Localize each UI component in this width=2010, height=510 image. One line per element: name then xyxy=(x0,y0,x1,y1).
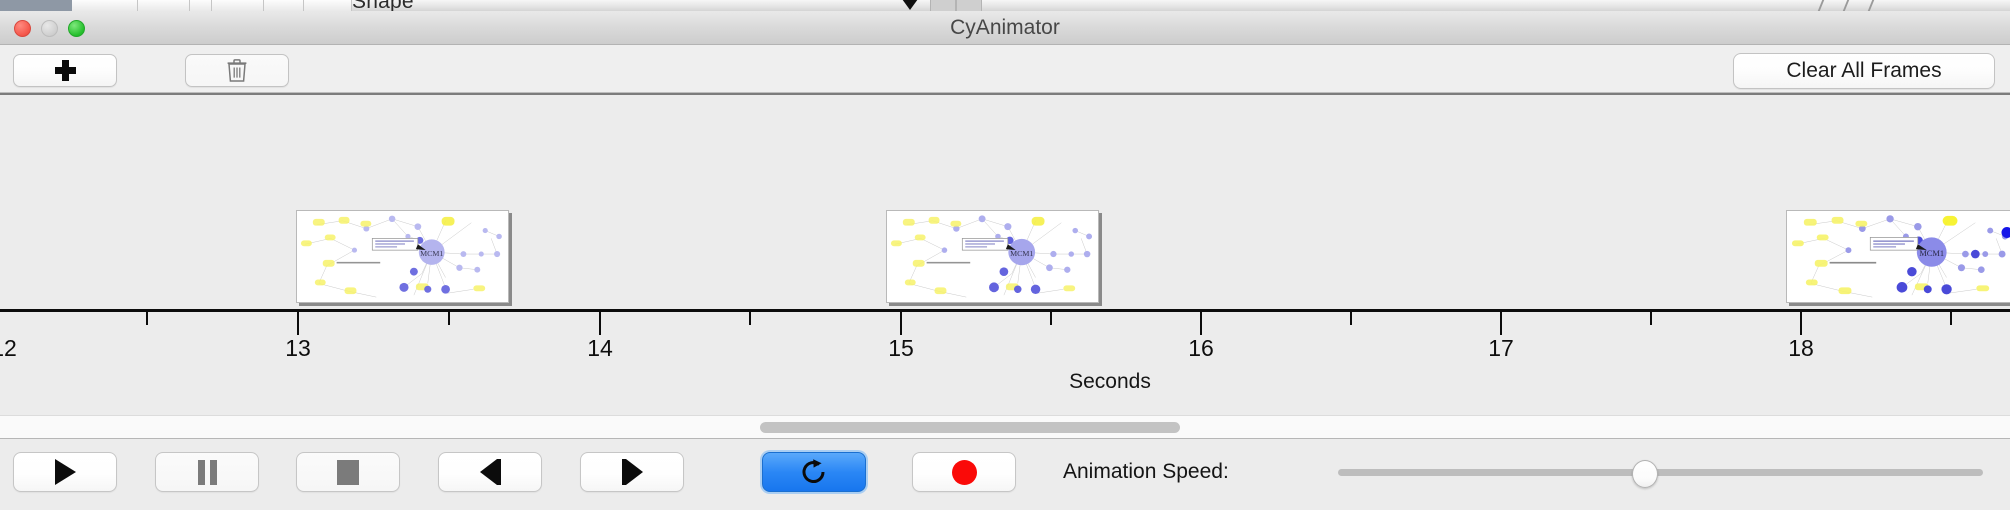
background-window-divider xyxy=(1868,0,1874,11)
stop-icon xyxy=(337,460,359,485)
axis-line xyxy=(0,309,2010,312)
background-window-cursor-arrow-icon xyxy=(902,0,918,10)
axis-tick-label: 13 xyxy=(285,335,311,362)
scrollbar-thumb[interactable] xyxy=(760,422,1180,433)
frame-thumbnail-3[interactable]: MCM1 xyxy=(1786,210,2010,303)
slider-thumb[interactable] xyxy=(1632,460,1658,488)
axis-tick-minor xyxy=(1050,312,1052,325)
record-icon xyxy=(952,460,977,485)
clear-all-frames-label: Clear All Frames xyxy=(1786,59,1941,83)
axis-tick-label: 12 xyxy=(0,335,17,362)
axis-tick-major xyxy=(900,312,902,335)
loop-icon xyxy=(800,458,828,486)
axis-tick-minor xyxy=(448,312,450,325)
axis-tick-label: 15 xyxy=(888,335,914,362)
background-window-tab xyxy=(930,0,956,11)
axis-tick-minor xyxy=(1350,312,1352,325)
axis-title-label: Seconds xyxy=(1069,370,1151,393)
background-window-divider xyxy=(1843,0,1849,11)
skip-to-end-button[interactable] xyxy=(580,452,684,492)
background-window-segment xyxy=(304,0,352,11)
plus-icon xyxy=(55,60,76,81)
pause-icon xyxy=(198,460,217,485)
play-icon xyxy=(55,459,76,485)
axis-tick-minor xyxy=(1650,312,1652,325)
playback-controls: Animation Speed: xyxy=(0,440,2010,510)
skip-to-start-button[interactable] xyxy=(438,452,542,492)
background-window-sidebar xyxy=(0,0,72,11)
minimize-button[interactable] xyxy=(41,20,58,37)
background-window-divider xyxy=(1818,0,1824,11)
animation-speed-slider[interactable] xyxy=(1338,452,1983,492)
add-frame-button[interactable] xyxy=(13,54,117,87)
trash-icon xyxy=(227,59,247,82)
pause-button[interactable] xyxy=(155,452,259,492)
close-button[interactable] xyxy=(14,20,31,37)
timeline-scrollbar[interactable] xyxy=(0,415,2010,439)
maximize-button[interactable] xyxy=(68,20,85,37)
timeline-axis[interactable]: 12 13 14 15 16 17 18 Seconds xyxy=(0,309,2010,415)
background-window-segment xyxy=(190,0,212,11)
frame-thumbnail-1[interactable]: MCM1 xyxy=(296,210,509,303)
frame-thumbnail-2[interactable]: MCM1 xyxy=(886,210,1099,303)
window-title: CyAnimator xyxy=(0,11,2010,45)
skip-back-icon xyxy=(480,459,501,485)
delete-frame-button[interactable] xyxy=(185,54,289,87)
background-window-segment xyxy=(212,0,264,11)
background-window-strip: Shape xyxy=(0,0,2010,11)
axis-tick-minor xyxy=(1950,312,1952,325)
record-button[interactable] xyxy=(912,452,1016,492)
cyanimator-window: Shape CyAnimator xyxy=(0,0,2010,510)
axis-tick-minor xyxy=(749,312,751,325)
axis-tick-label: 14 xyxy=(587,335,613,362)
axis-tick-major xyxy=(1500,312,1502,335)
traffic-light-group xyxy=(14,20,85,37)
clear-all-frames-button[interactable]: Clear All Frames xyxy=(1733,53,1995,89)
skip-forward-icon xyxy=(622,459,643,485)
axis-tick-label: 18 xyxy=(1788,335,1814,362)
svg-text:MCM1: MCM1 xyxy=(1919,249,1944,258)
frame-strip[interactable]: MCM1 xyxy=(0,93,2010,309)
axis-tick-label: 16 xyxy=(1188,335,1214,362)
axis-tick-major xyxy=(599,312,601,335)
stop-button[interactable] xyxy=(296,452,400,492)
background-window-tab xyxy=(956,0,982,11)
axis-tick-label: 17 xyxy=(1488,335,1514,362)
animation-speed-label: Animation Speed: xyxy=(1063,452,1229,492)
svg-text:MCM1: MCM1 xyxy=(420,249,443,258)
loop-button[interactable] xyxy=(762,452,866,492)
axis-tick-major xyxy=(1200,312,1202,335)
background-window-segment xyxy=(72,0,138,11)
slider-track[interactable] xyxy=(1338,469,1983,476)
background-window-segment xyxy=(264,0,304,11)
axis-tick-major xyxy=(1800,312,1802,335)
toolbar: Clear All Frames xyxy=(0,45,2010,93)
background-window-label: Shape xyxy=(352,0,414,11)
play-button[interactable] xyxy=(13,452,117,492)
axis-tick-minor xyxy=(146,312,148,325)
svg-text:MCM1: MCM1 xyxy=(1010,249,1033,258)
axis-title: Seconds xyxy=(0,370,2010,394)
titlebar: CyAnimator xyxy=(0,11,2010,45)
axis-tick-major xyxy=(297,312,299,335)
background-window-segment xyxy=(138,0,190,11)
